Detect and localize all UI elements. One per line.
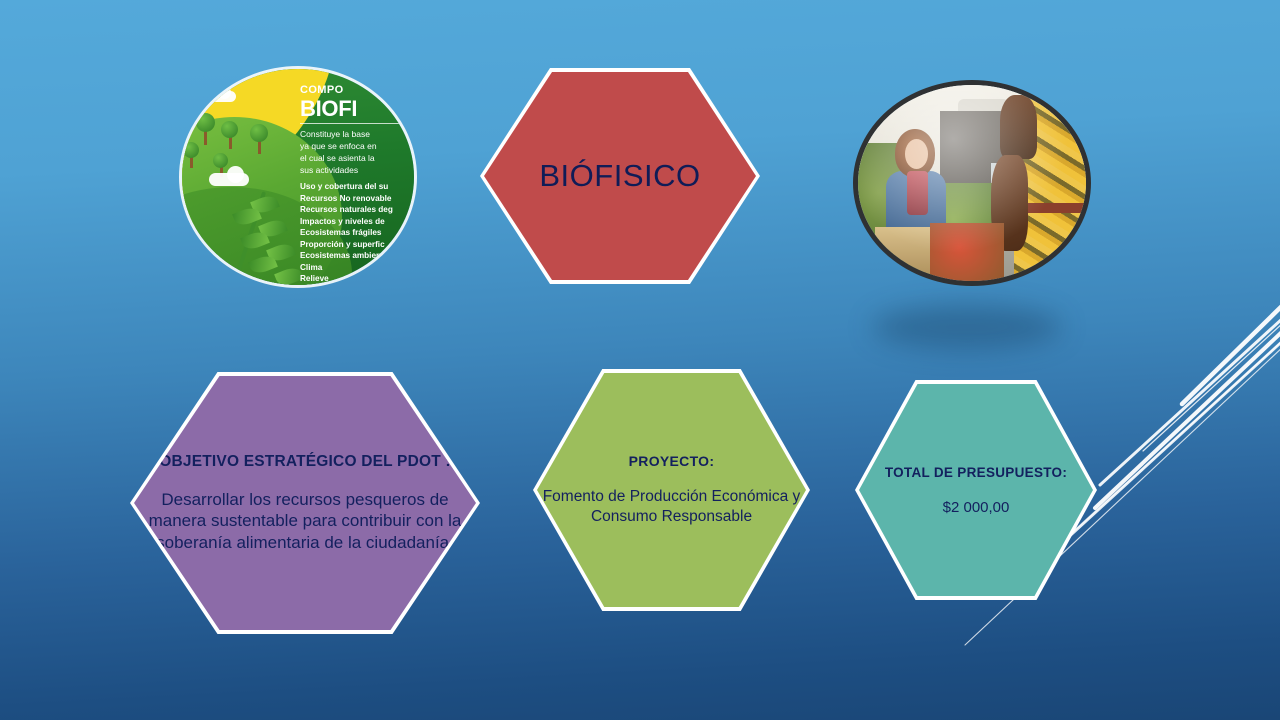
total-presupuesto-hexagon[interactable]: TOTAL DE PRESUPUESTO: $2 000,00: [859, 384, 1093, 596]
list-item: Ecosistemas frágiles: [300, 227, 414, 238]
biofisico-title: BIÓFISICO: [539, 158, 700, 194]
presupuesto-hexagon-content: TOTAL DE PRESUPUESTO: $2 000,00: [881, 464, 1071, 517]
infographic-text-panel: COMPO BIOFI Constituye la base ya que se…: [290, 69, 414, 285]
objetivo-body-text: Desarrollar los recursos pesqueros de ma…: [138, 489, 472, 554]
infographic-canvas: COMPO BIOFI Constituye la base ya que se…: [182, 69, 414, 285]
list-item: Uso y cobertura del su: [300, 181, 414, 192]
cloud-icon: [227, 166, 244, 183]
infographic-body-line: Constituye la base: [300, 128, 414, 140]
biofisico-hexagon[interactable]: BIÓFISICO: [484, 72, 756, 280]
biofisico-hexagon-content: BIÓFISICO: [535, 158, 704, 194]
proyecto-hexagon-content: PROYECTO: Fomento de Producción Económic…: [537, 453, 806, 526]
market-photo: [853, 80, 1091, 286]
proyecto-hexagon[interactable]: PROYECTO: Fomento de Producción Económic…: [537, 373, 806, 607]
presupuesto-heading: TOTAL DE PRESUPUESTO:: [885, 464, 1067, 482]
infographic-kicker: COMPO: [300, 85, 414, 96]
tree-icon: [250, 124, 268, 142]
objetivo-hexagon-content: OBJETIVO ESTRATÉGICO DEL PDOT : Desarrol…: [134, 452, 476, 554]
infographic-body-line: sus actividades: [300, 164, 414, 176]
list-item: Impactos y niveles de: [300, 216, 414, 227]
infographic-bullet-list: Uso y cobertura del su Recursos No renov…: [300, 181, 414, 285]
proyecto-heading: PROYECTO:: [541, 453, 802, 469]
list-item: Proporción y superfic: [300, 239, 414, 250]
tree-icon: [196, 113, 215, 132]
tree-icon: [221, 121, 238, 138]
photo-content: [856, 83, 1088, 283]
tree-icon: [183, 142, 199, 158]
infographic-divider: [300, 123, 414, 124]
list-item: Relieve: [300, 273, 414, 284]
presentation-slide: COMPO BIOFI Constituye la base ya que se…: [0, 0, 1280, 720]
list-item: Clima: [300, 262, 414, 273]
photo-sunlight-haze: [856, 83, 1088, 283]
list-item: Recursos No renovable: [300, 193, 414, 204]
objetivo-heading: OBJETIVO ESTRATÉGICO DEL PDOT :: [138, 452, 472, 471]
list-item: Recursos naturales deg: [300, 204, 414, 215]
infographic-body: Constituye la base ya que se enfoca en e…: [300, 128, 414, 176]
infographic-body-line: el cual se asienta la: [300, 152, 414, 164]
cloud-icon: [218, 86, 231, 99]
photo-drop-shadow: [872, 305, 1062, 349]
infographic-body-line: ya que se enfoca en: [300, 140, 414, 152]
list-item: Ecosistemas ambien: [300, 250, 414, 261]
tree-icon: [213, 153, 228, 168]
infographic-title: BIOFI: [300, 97, 414, 120]
biofisico-infographic-image: COMPO BIOFI Constituye la base ya que se…: [182, 69, 414, 285]
objetivo-estrategico-hexagon[interactable]: OBJETIVO ESTRATÉGICO DEL PDOT : Desarrol…: [134, 376, 476, 630]
proyecto-body-text: Fomento de Producción Económica y Consum…: [541, 487, 802, 526]
presupuesto-amount: $2 000,00: [885, 499, 1067, 516]
